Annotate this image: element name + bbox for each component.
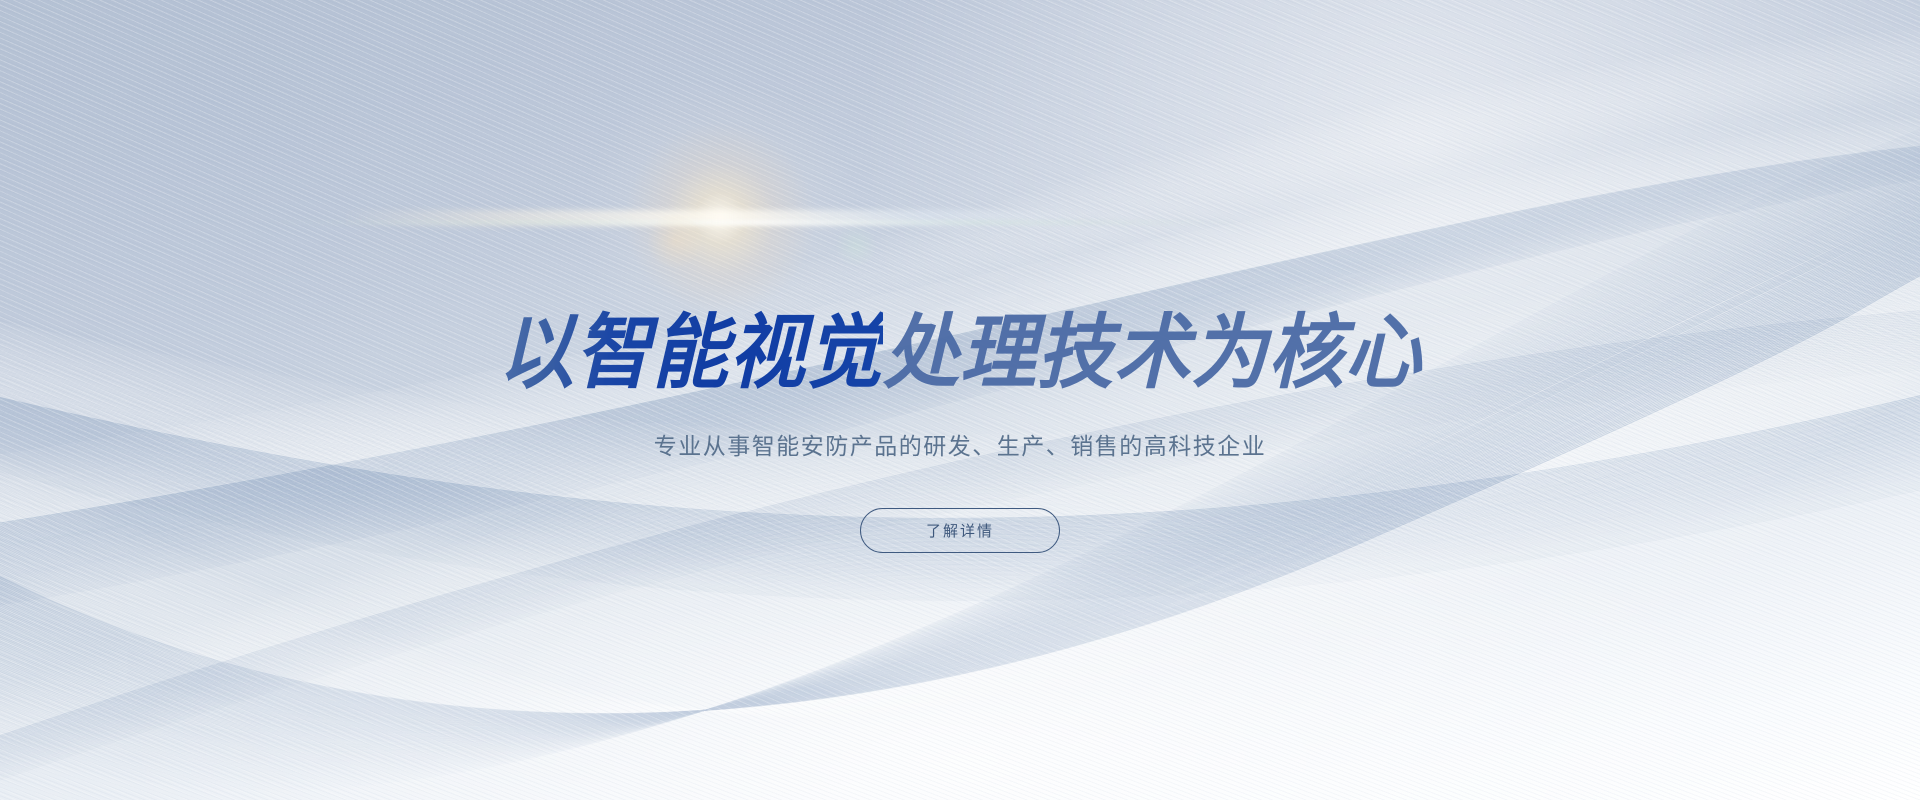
headline-segment-primary: 以智能视觉: [498, 308, 883, 399]
page-title: 以智能视觉处理技术为核心: [0, 313, 1920, 394]
hero-banner: 以智能视觉处理技术为核心 专业从事智能安防产品的研发、生产、销售的高科技企业 了…: [0, 0, 1920, 800]
learn-more-button[interactable]: 了解详情: [860, 508, 1060, 553]
background-glow-overlay: [0, 0, 1920, 800]
cta-container: 了解详情: [0, 508, 1920, 553]
headline-segment-secondary: 处理技术为核心: [883, 308, 1422, 399]
page-subtitle: 专业从事智能安防产品的研发、生产、销售的高科技企业: [0, 427, 1920, 461]
